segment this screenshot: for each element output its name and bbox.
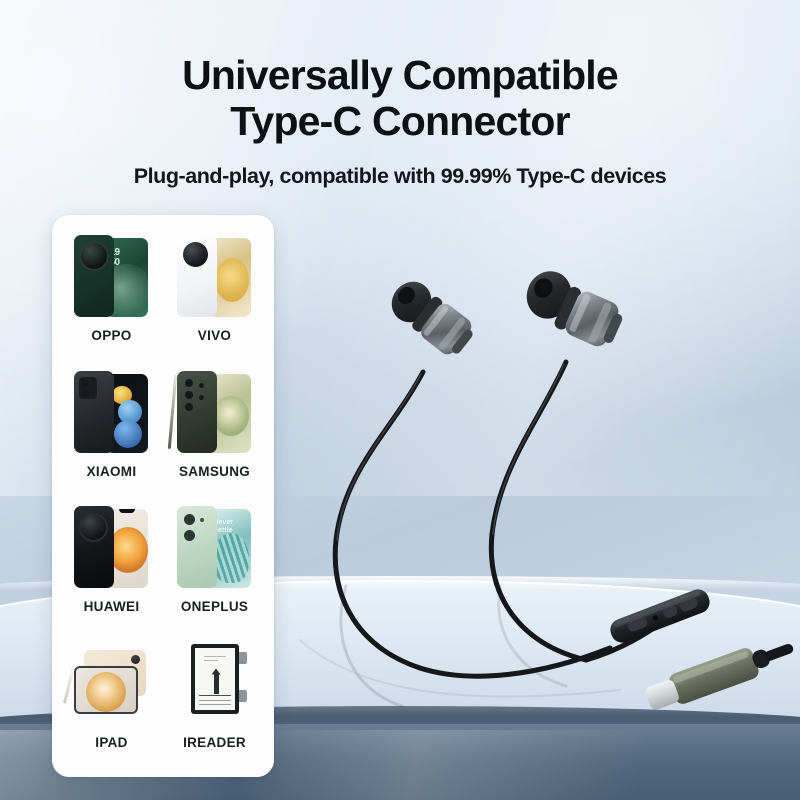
device-tile-xiaomi[interactable]: XIAOMI bbox=[62, 365, 161, 499]
ipad-tablet-image bbox=[66, 636, 158, 732]
brand-label: IPAD bbox=[95, 735, 127, 750]
ireader-ereader-image bbox=[169, 636, 261, 732]
device-tile-samsung[interactable]: SAMSUNG bbox=[165, 365, 264, 499]
brand-label: HUAWEI bbox=[84, 599, 140, 614]
brand-label: SAMSUNG bbox=[179, 464, 250, 479]
device-tile-oppo[interactable]: 1950 OPPO bbox=[62, 229, 161, 363]
vivo-phone-image bbox=[169, 229, 261, 325]
brand-label: VIVO bbox=[198, 328, 231, 343]
device-tile-huawei[interactable]: HUAWEI bbox=[62, 500, 161, 634]
xiaomi-phone-image bbox=[66, 365, 158, 461]
brand-label: XIAOMI bbox=[87, 464, 137, 479]
brand-label: OPPO bbox=[91, 328, 131, 343]
s-pen-stylus bbox=[167, 375, 176, 449]
device-tile-ipad[interactable]: IPAD bbox=[62, 636, 161, 770]
device-tile-ireader[interactable]: IREADER bbox=[165, 636, 264, 770]
huawei-phone-image bbox=[66, 500, 158, 596]
device-tile-vivo[interactable]: VIVO bbox=[165, 229, 264, 363]
device-tile-oneplus[interactable]: NeverSettle ONEPLUS bbox=[165, 500, 264, 634]
brand-label: ONEPLUS bbox=[181, 599, 248, 614]
brand-label: IREADER bbox=[183, 735, 246, 750]
oneplus-phone-image: NeverSettle bbox=[169, 500, 261, 596]
product-marketing-image: Universally Compatible Type-C Connector … bbox=[0, 0, 800, 800]
oppo-phone-image: 1950 bbox=[66, 229, 158, 325]
samsung-phone-image bbox=[169, 365, 261, 461]
compatibility-panel: 1950 OPPO VIVO bbox=[52, 215, 274, 777]
